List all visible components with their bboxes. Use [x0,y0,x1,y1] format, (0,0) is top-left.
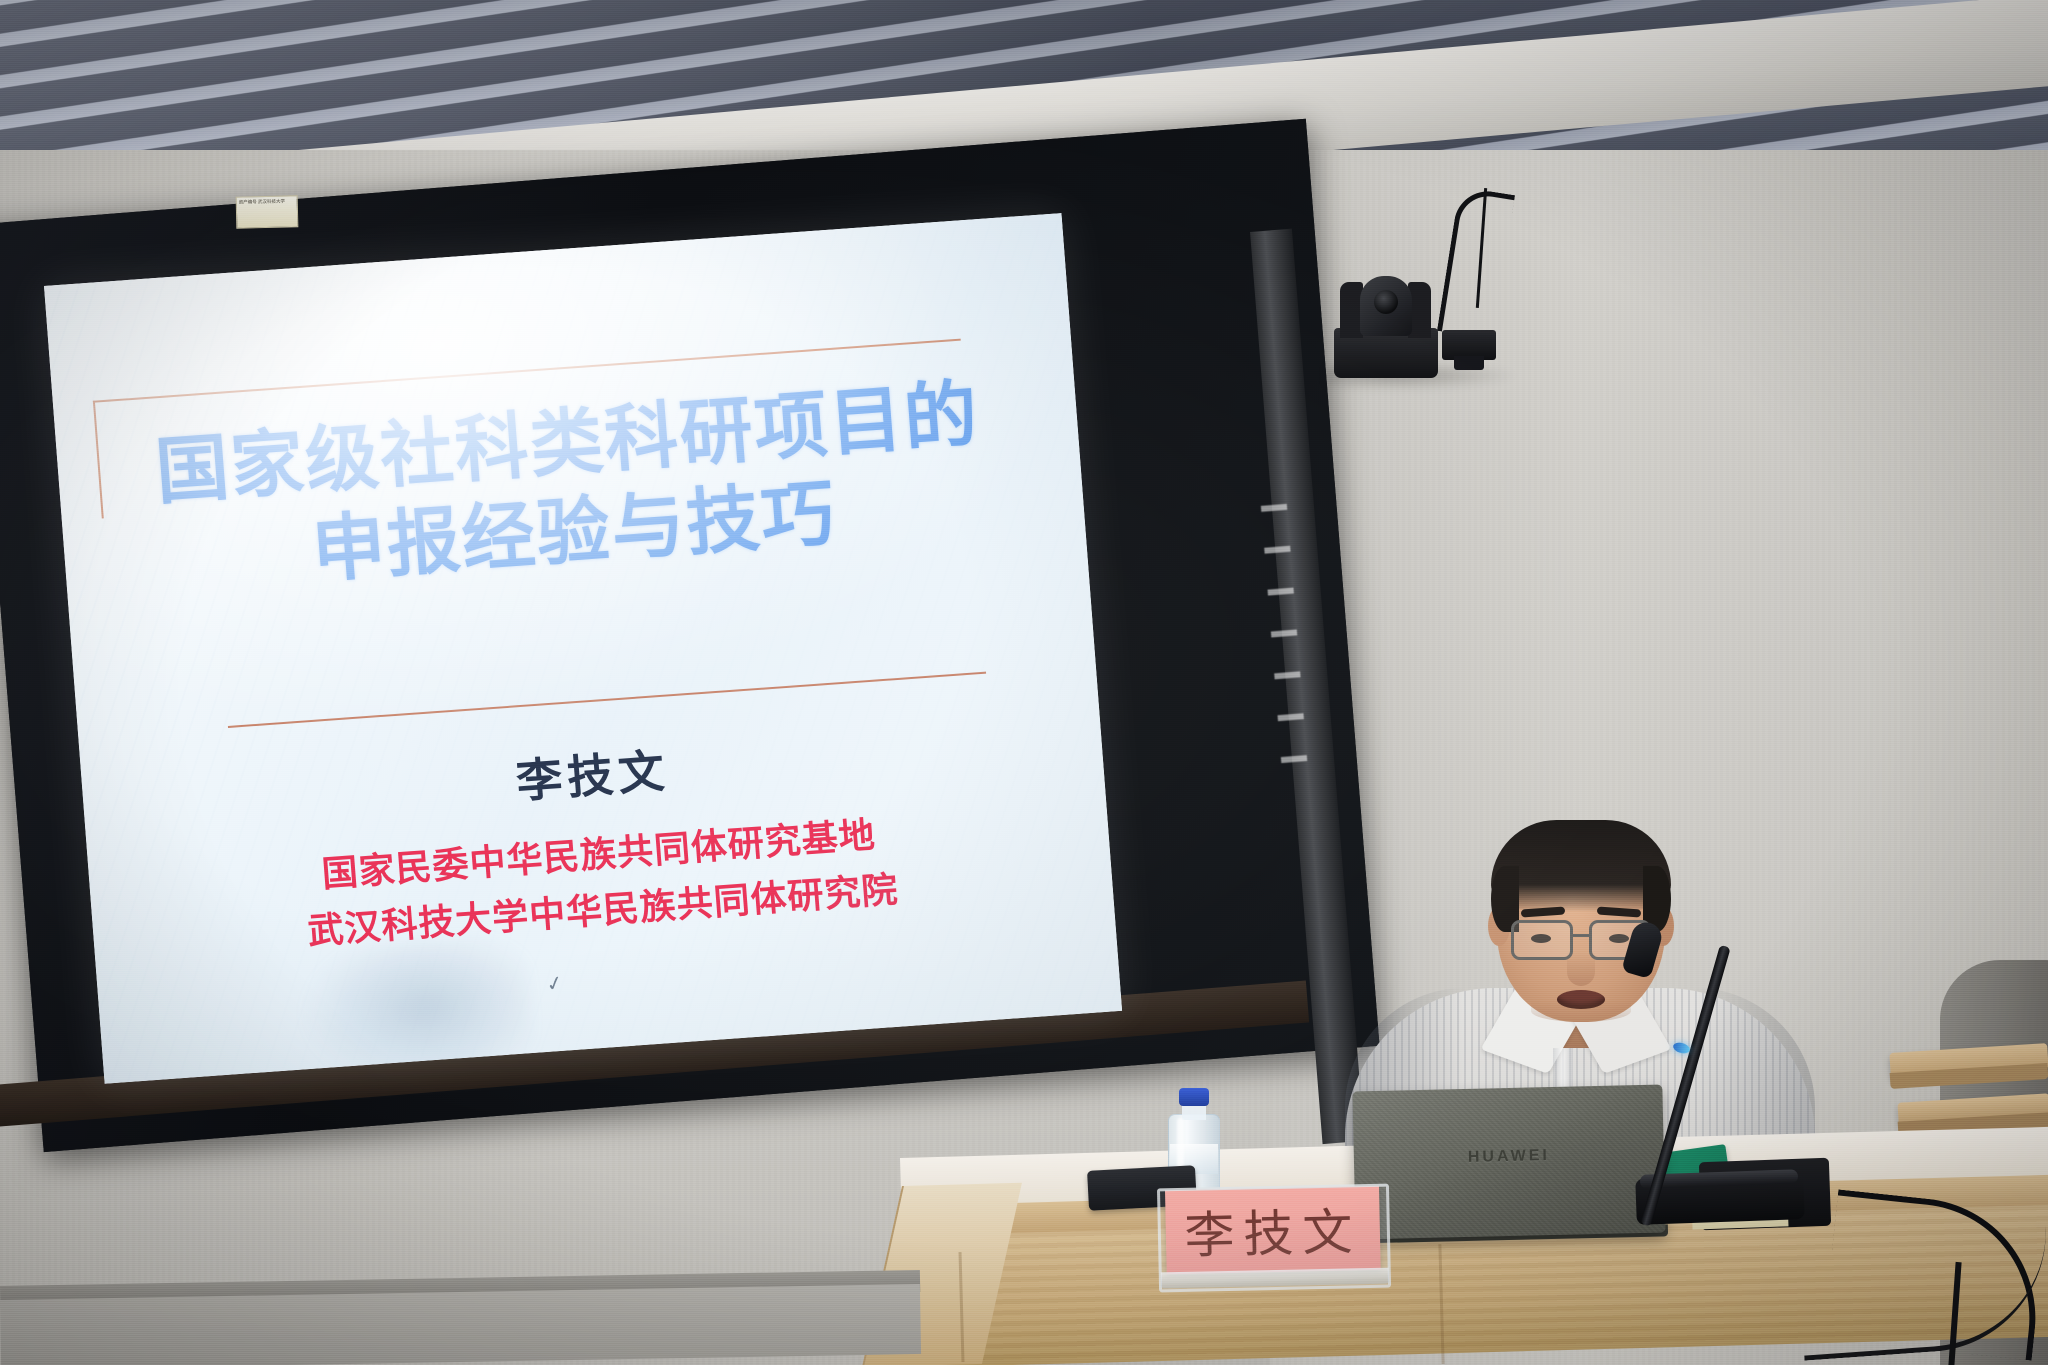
projected-slide: 国家级社科类科研项目的 申报经验与技巧 李技文 国家民委中华民族共同体研究基地 … [44,213,1122,1084]
laptop: HUAWEI [1352,1085,1665,1240]
glasses-lens-left [1511,920,1573,960]
ptz-camera [1330,268,1500,388]
camera-junction-box-lower [1454,356,1484,370]
name-placard: 李技文 [1157,1182,1391,1293]
bottle-cap [1179,1088,1209,1106]
glasses-bridge [1573,934,1589,937]
camera-lens-icon [1374,290,1398,314]
speaker-nose [1567,952,1595,986]
speaker-chin [1531,1000,1631,1022]
laptop-asset-sticker: 资产编号 武汉科技大学 [236,195,299,228]
photo-scene: 国家级社科类科研项目的 申报经验与技巧 李技文 国家民委中华民族共同体研究基地 … [0,0,2048,1365]
